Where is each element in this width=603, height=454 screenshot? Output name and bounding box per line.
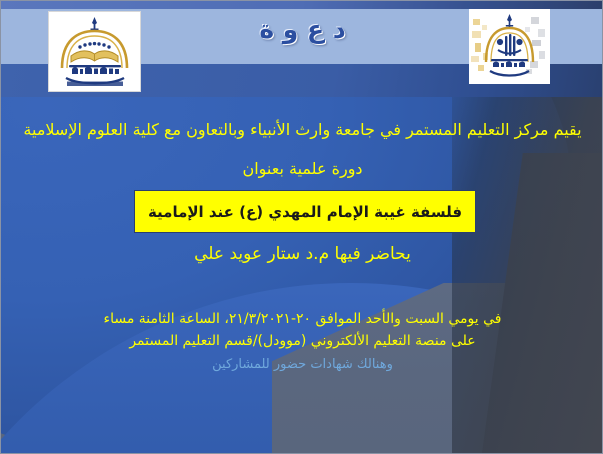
date-time-line: في يومي السبت والأحد الموافق ٢٠-٢١/٣/٢٠٢… [1,311,603,327]
presentation-slide: د ع و ة [0,0,603,454]
certificates-line: وهنالك شهادات حضور للمشاركين [1,357,603,372]
background-dark-corner [482,153,602,453]
course-title-highlight: فلسفة غيبة الإمام المهدي (ع) عند الإمامي… [134,190,476,233]
course-title-text: فلسفة غيبة الإمام المهدي (ع) عند الإمامي… [142,203,468,221]
lecturer-line: يحاضر فيها م.د ستار عويد علي [1,244,603,264]
university-logo-right [469,9,550,84]
header-banner-top-edge [1,1,603,9]
intro-line: يقيم مركز التعليم المستمر في جامعة وارث … [1,119,603,141]
platform-line: على منصة التعليم الألكتروني (موودل)/قسم … [1,333,603,349]
university-logo-left [48,11,141,92]
background-footer-strip [1,375,602,453]
course-label-line: دورة علمية بعنوان [1,159,603,178]
